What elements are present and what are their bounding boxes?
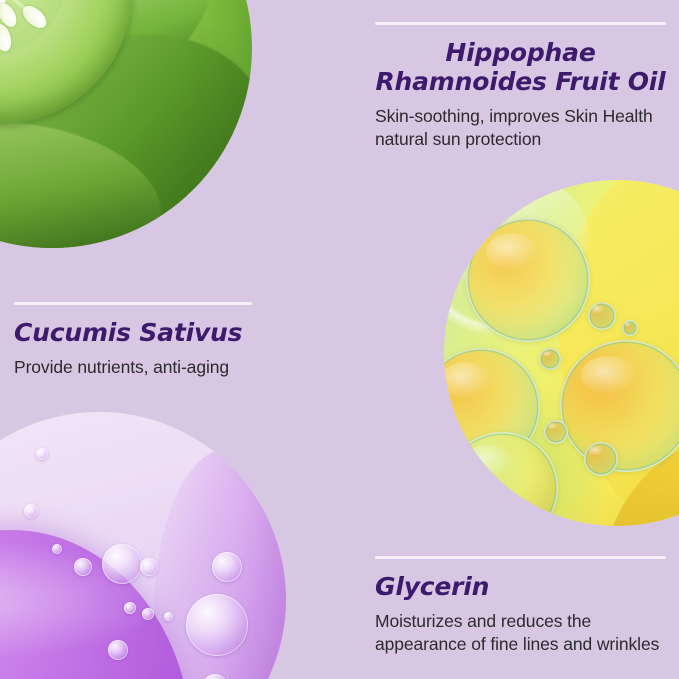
cucumber-flesh	[0, 0, 69, 58]
serum-droplet	[186, 594, 248, 656]
oil-bubble-large-top	[466, 218, 590, 342]
ingredient-title: Cucumis Sativus	[14, 318, 252, 347]
oil-bubbles-photo	[444, 180, 679, 526]
ingredient-title: Hippophae Rhamnoides Fruit Oil	[375, 38, 666, 96]
serum-droplet	[142, 608, 154, 620]
ingredient-block-glycerin: Glycerin Moisturizes and reduces the app…	[375, 556, 666, 657]
oil-bubble-small-b	[539, 348, 561, 370]
serum-droplet	[102, 544, 142, 584]
ingredient-block-hippophae: Hippophae Rhamnoides Fruit Oil Skin-soot…	[375, 22, 666, 152]
serum-droplet	[36, 448, 48, 460]
oil-bubble-small-c	[544, 420, 568, 444]
serum-droplet	[74, 558, 92, 576]
oil-bubble-small-d	[584, 442, 618, 476]
serum-droplet	[140, 558, 158, 576]
ingredient-title: Glycerin	[375, 572, 666, 601]
cucumber-seed	[0, 23, 14, 54]
oil-bubble-small-a	[588, 302, 616, 330]
serum-droplet	[24, 504, 38, 518]
serum-droplet	[164, 612, 173, 621]
ingredient-description: Provide nutrients, anti-aging	[14, 356, 252, 379]
serum-droplet	[124, 602, 136, 614]
serum-droplet	[108, 640, 128, 660]
ingredient-block-cucumis: Cucumis Sativus Provide nutrients, anti-…	[14, 302, 252, 379]
cucumber-slices-photo	[0, 0, 252, 248]
serum-droplet	[212, 552, 242, 582]
oil-bubble-small-e	[622, 320, 638, 336]
divider-line	[375, 556, 666, 559]
serum-droplet	[52, 544, 62, 554]
divider-line	[375, 22, 666, 25]
ingredient-infographic: Hippophae Rhamnoides Fruit Oil Skin-soot…	[0, 0, 679, 679]
ingredient-description: Skin-soothing, improves Skin Health natu…	[375, 105, 666, 152]
ingredient-description: Moisturizes and reduces the appearance o…	[375, 610, 666, 657]
divider-line	[14, 302, 252, 305]
purple-serum-photo	[0, 412, 286, 679]
